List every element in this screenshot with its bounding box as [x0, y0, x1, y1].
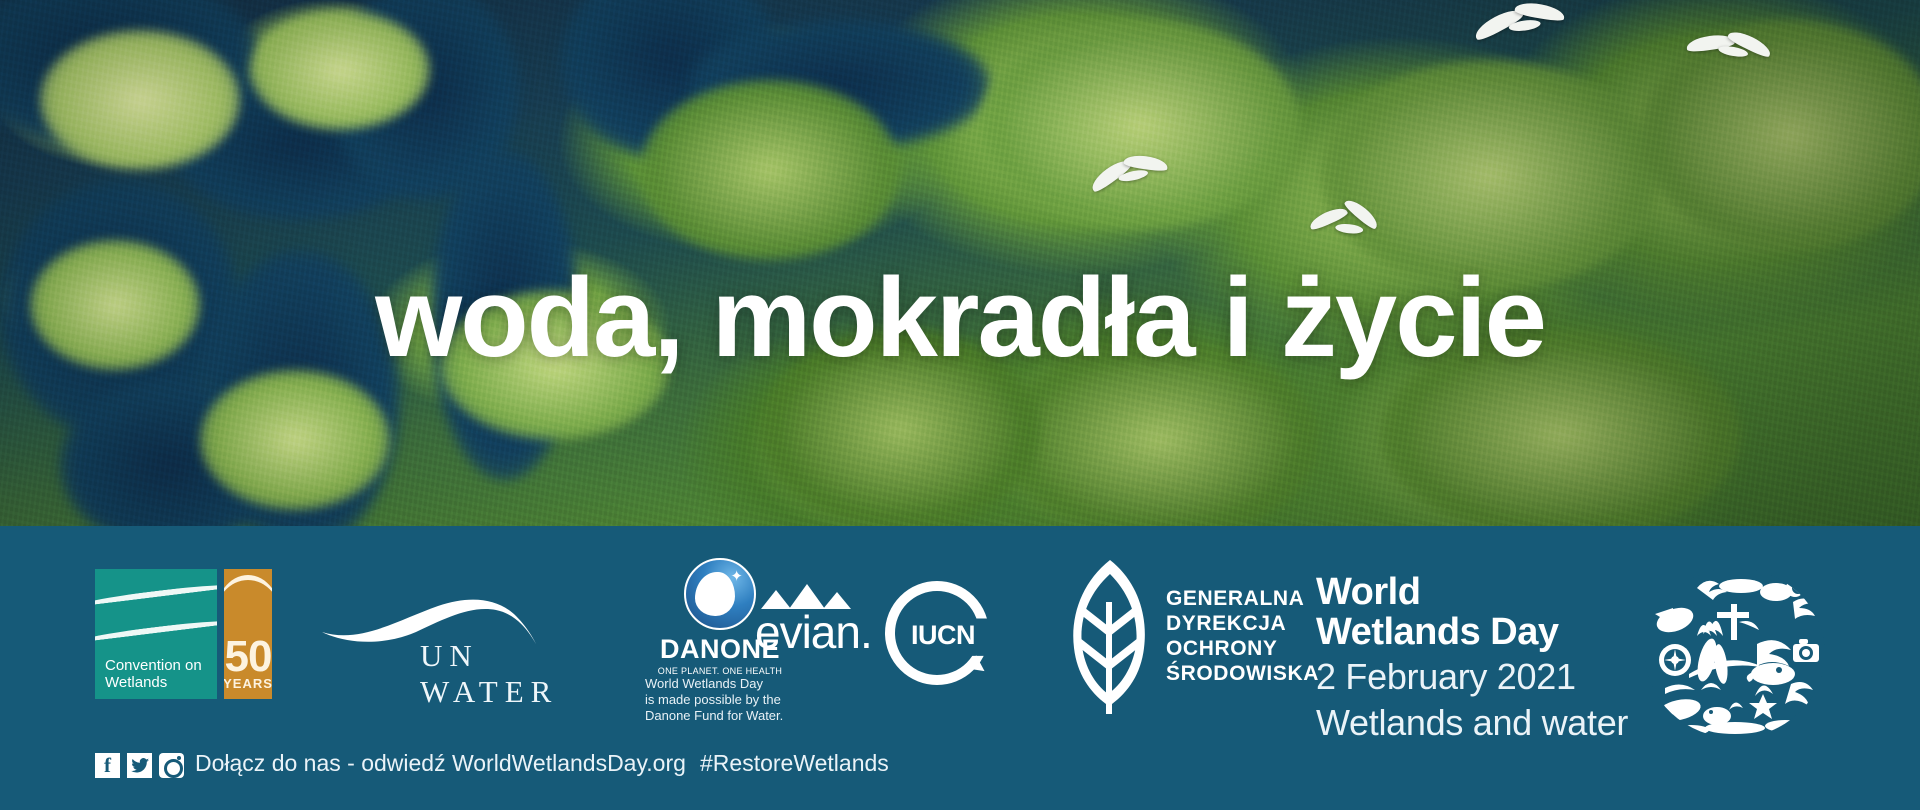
evian-wordmark: evian. — [755, 610, 870, 654]
un-water-wave-icon — [320, 586, 575, 646]
convention-label-line1: Convention on — [105, 657, 202, 674]
danone-sponsor-caption: World Wetlands Day is made possible by t… — [645, 676, 817, 724]
headline-slogan: woda, mokradła i życie — [0, 262, 1920, 374]
facebook-icon[interactable]: f — [95, 753, 120, 778]
convention-50-years-mark: 50 YEARS — [224, 569, 272, 699]
arc-line-icon — [224, 575, 272, 620]
evian-mountains-icon — [755, 584, 870, 610]
gdos-logo[interactable]: GENERALNA DYREKCJA OCHRONY ŚRODOWISKA — [1070, 556, 1319, 716]
gdos-wordmark: GENERALNA DYREKCJA OCHRONY ŚRODOWISKA — [1166, 586, 1319, 686]
gdos-line2: DYREKCJA — [1166, 611, 1319, 636]
gdos-line1: GENERALNA — [1166, 586, 1319, 611]
wwd-theme: Wetlands and water — [1316, 702, 1628, 744]
instagram-dot-glyph — [177, 756, 181, 760]
instagram-icon[interactable] — [159, 753, 184, 778]
wwd-title-line2: Wetlands Day — [1316, 612, 1628, 652]
twitter-bird-glyph — [131, 758, 149, 773]
world-wetlands-day-text-block: World Wetlands Day 2 February 2021 Wetla… — [1316, 572, 1628, 744]
danone-globe-icon: ✦ — [684, 558, 756, 630]
gdos-line4: ŚRODOWISKA — [1166, 661, 1319, 686]
wave-line-icon — [95, 617, 217, 644]
convention-on-wetlands-logo[interactable]: Convention on Wetlands 50 YEARS — [95, 569, 272, 699]
world-wetlands-day-banner: woda, mokradła i życie Convention on Wet… — [0, 0, 1920, 810]
hashtag-text[interactable]: #RestoreWetlands — [700, 750, 889, 777]
facebook-glyph: f — [104, 755, 111, 776]
caption-line1: World Wetlands Day — [645, 676, 817, 692]
caption-line2: is made possible by the — [645, 692, 817, 708]
social-media-icons[interactable]: f — [95, 753, 184, 778]
wwd-date: 2 February 2021 — [1316, 656, 1628, 698]
join-us-text[interactable]: Dołącz do nas - odwiedź WorldWetlandsDay… — [195, 750, 686, 777]
sponsor-footer-panel: Convention on Wetlands 50 YEARS UN WATER… — [0, 526, 1920, 810]
wave-line-icon — [95, 581, 217, 608]
danone-tagline: ONE PLANET. ONE HEALTH — [645, 666, 795, 676]
convention-logo-label: Convention on Wetlands — [105, 657, 202, 691]
gdos-leaf-icon — [1070, 556, 1150, 716]
twitter-icon[interactable] — [127, 753, 152, 778]
collage-icons — [1645, 568, 1825, 738]
instagram-lens-glyph — [164, 759, 183, 778]
gdos-line3: OCHRONY — [1166, 636, 1319, 661]
evian-logo[interactable]: evian. — [755, 584, 870, 654]
un-water-logo[interactable]: UN WATER — [320, 586, 575, 681]
star-icon: ✦ — [730, 569, 743, 584]
anniversary-number: 50 — [225, 638, 272, 676]
anniversary-label: YEARS — [224, 676, 272, 691]
iucn-logo[interactable]: IUCN — [885, 581, 989, 685]
un-water-wordmark: UN WATER — [420, 638, 575, 710]
wwd-title-line1: World — [1316, 572, 1628, 612]
iucn-wordmark: IUCN — [911, 620, 975, 651]
danone-face-icon — [695, 572, 735, 616]
convention-label-line2: Wetlands — [105, 674, 202, 691]
wetlands-icon-collage — [1645, 568, 1825, 738]
convention-logo-mark: Convention on Wetlands — [95, 569, 217, 699]
caption-line3: Danone Fund for Water. — [645, 708, 817, 724]
